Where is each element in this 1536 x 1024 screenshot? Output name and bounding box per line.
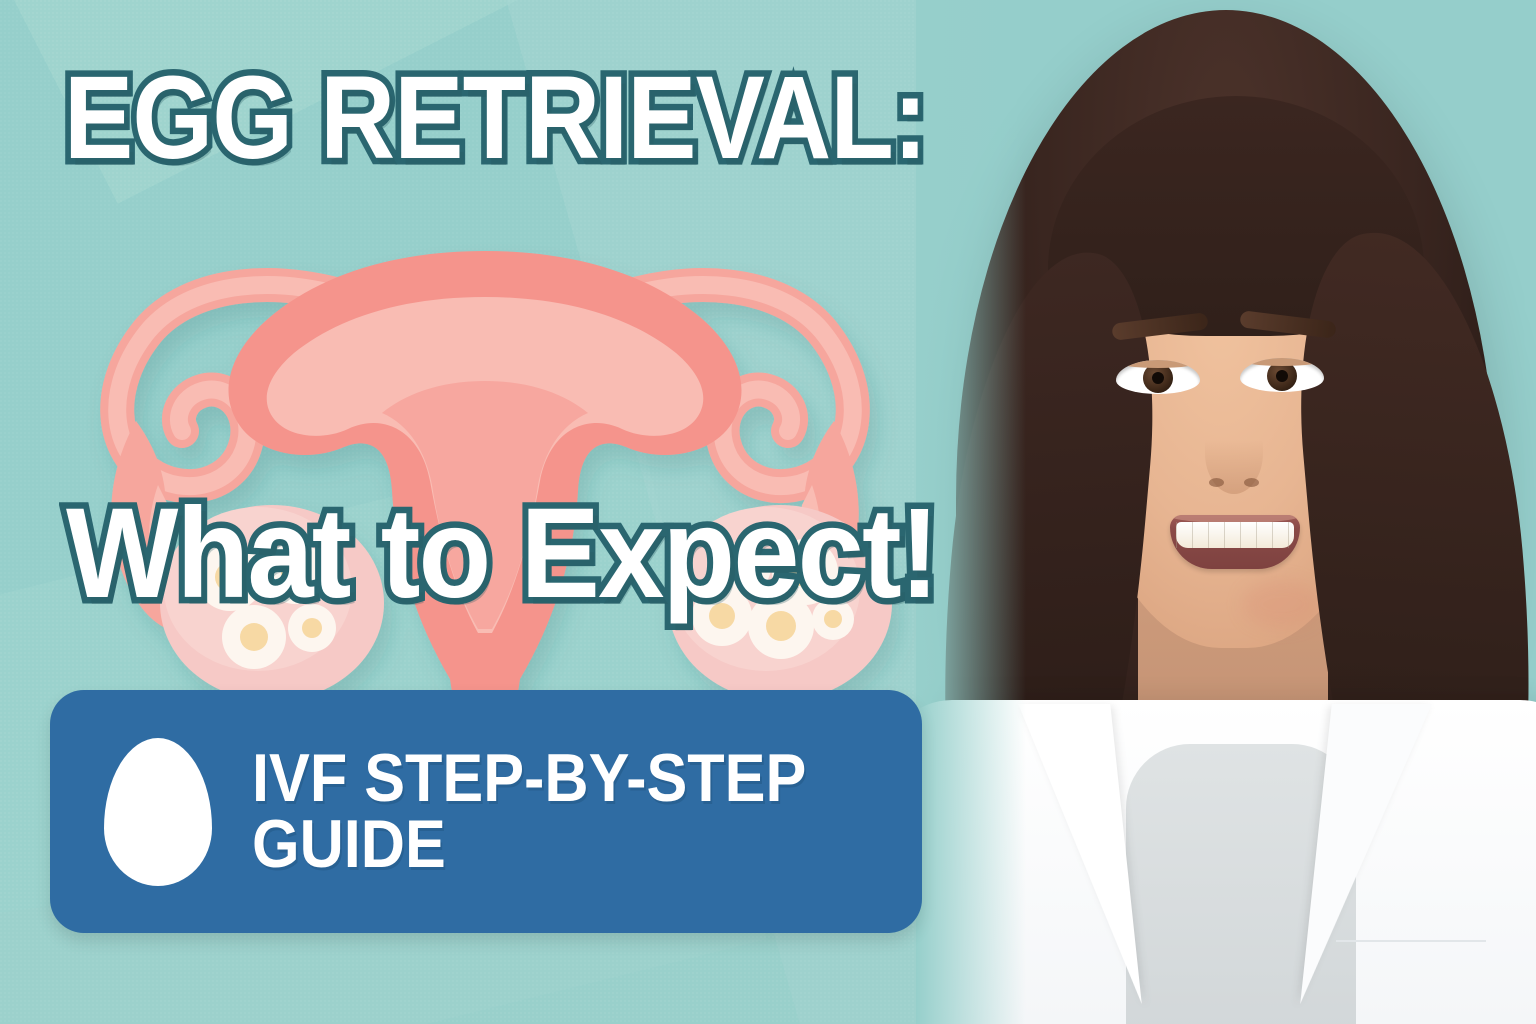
headline-line-2: What to Expect! [66, 480, 938, 627]
badge-label-line-2: GUIDE [252, 812, 806, 878]
headline-line-1: EGG RETRIEVAL: [64, 50, 927, 186]
eye [1116, 360, 1200, 394]
egg-icon [104, 738, 212, 886]
doctor-photo [916, 0, 1536, 1024]
nostril [1244, 478, 1259, 487]
smiling-mouth [1170, 515, 1300, 569]
eyelid [1116, 360, 1200, 368]
nostril [1209, 478, 1224, 487]
badge-label-line-1: IVF STEP-BY-STEP [252, 740, 806, 816]
coat-pocket [1336, 940, 1486, 1024]
ivf-guide-badge[interactable]: IVF STEP-BY-STEP GUIDE [50, 690, 922, 933]
thumbnail-canvas: EGG RETRIEVAL: What to Expect! IVF STEP-… [0, 0, 1536, 1024]
teeth [1176, 522, 1294, 548]
eyelid [1240, 358, 1324, 366]
badge-label: IVF STEP-BY-STEP GUIDE [252, 746, 806, 878]
nose [1205, 412, 1263, 494]
cheek [1242, 580, 1320, 628]
pupil [1152, 372, 1164, 384]
eye [1240, 358, 1324, 392]
pupil [1276, 370, 1288, 382]
